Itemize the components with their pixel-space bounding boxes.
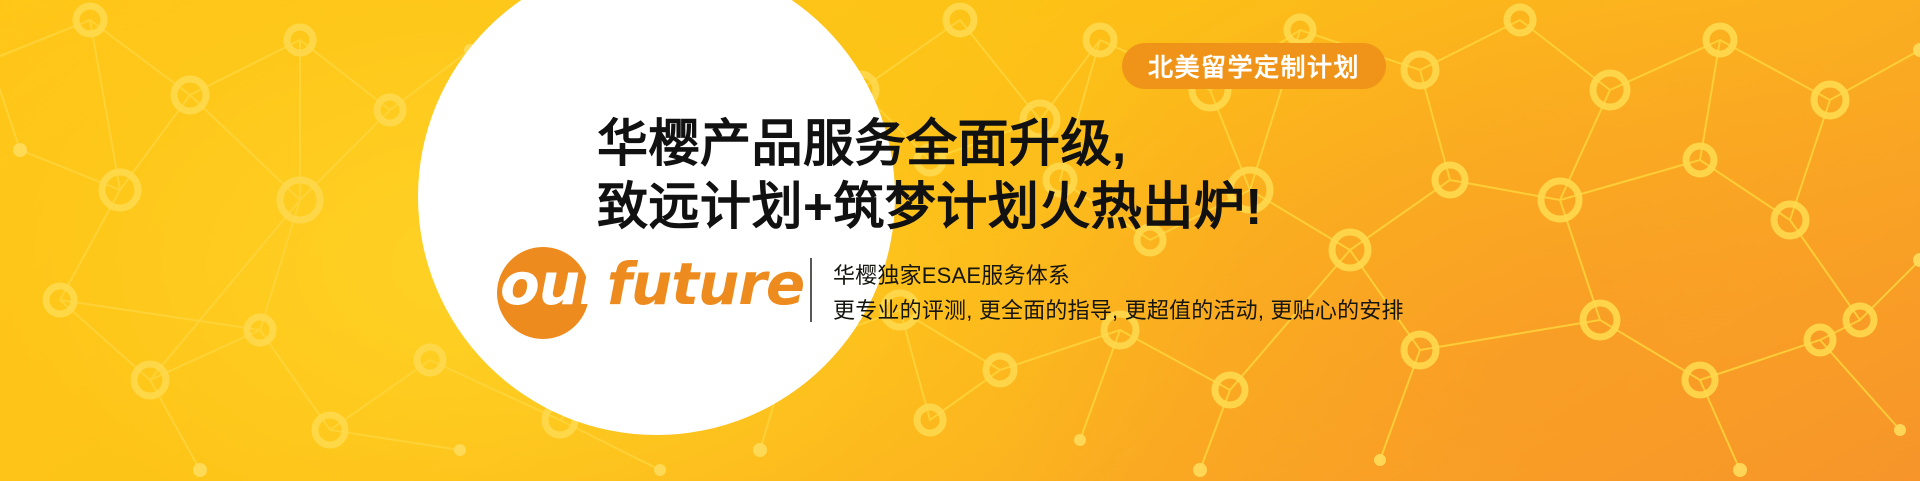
subtitle-block: 华樱独家ESAE服务体系 更专业的评测, 更全面的指导, 更超值的活动, 更贴心… <box>833 258 1404 328</box>
network-pattern-icon <box>0 0 1920 481</box>
logo-wordmark: ourfuture <box>500 255 810 313</box>
brand-logo: ourfuture <box>500 255 810 313</box>
page-title: 华樱产品服务全面升级, 致远计划+筑梦计划火热出炉! <box>597 112 1263 238</box>
promo-banner: 北美留学定制计划 华樱产品服务全面升级, 致远计划+筑梦计划火热出炉! ourf… <box>0 0 1920 481</box>
subtitle-line-1: 华樱独家ESAE服务体系 <box>833 258 1404 293</box>
vertical-divider <box>810 258 812 322</box>
badge-label: 北美留学定制计划 <box>1148 48 1360 84</box>
logo-word-future: future <box>607 250 804 318</box>
background-glow-right <box>960 0 1920 481</box>
status-badge: 北美留学定制计划 <box>1122 43 1386 89</box>
headline-line-1: 华樱产品服务全面升级, <box>597 112 1263 175</box>
subtitle-line-2: 更专业的评测, 更全面的指导, 更超值的活动, 更贴心的安排 <box>833 293 1404 328</box>
headline-line-2: 致远计划+筑梦计划火热出炉! <box>597 175 1263 238</box>
logo-word-our: our <box>500 250 607 318</box>
